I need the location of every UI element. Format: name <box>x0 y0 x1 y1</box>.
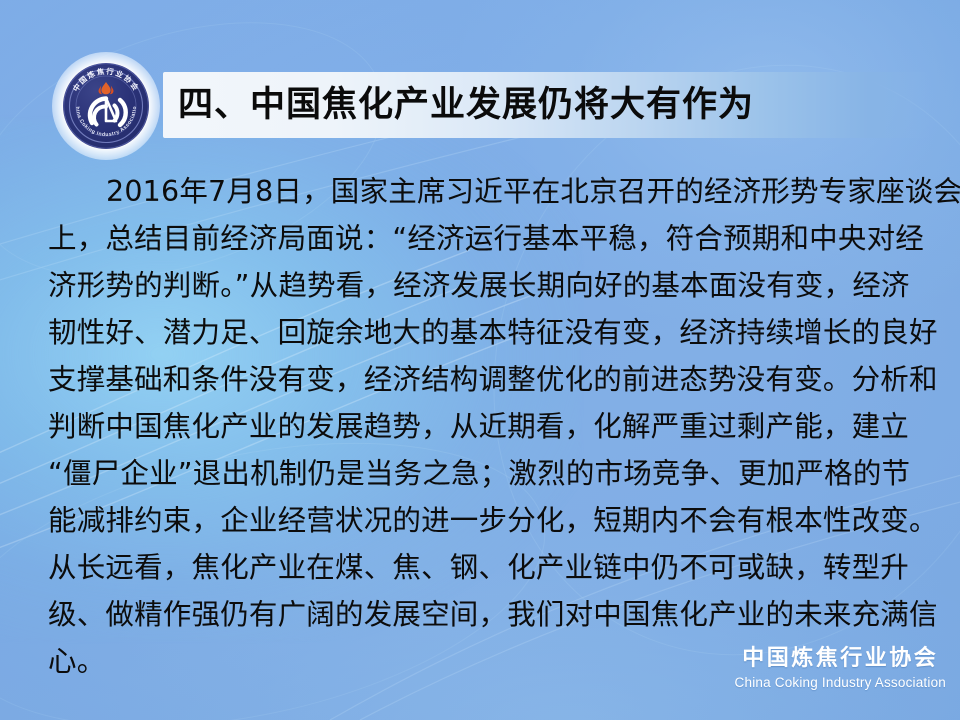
body-line: 济形势的判断。”从趋势看，经济发展长期向好的基本面没有变，经济 <box>48 262 914 309</box>
logo-emblem-icon: 中国炼焦行业协会 China Coking Industry Associati… <box>63 63 149 149</box>
flame-icon <box>99 82 114 94</box>
footer-watermark: 中国炼焦行业协会 China Coking Industry Associati… <box>735 646 946 692</box>
body-line: 级、做精作强仍有广阔的发展空间，我们对中国焦化产业的未来充满信 <box>48 591 914 638</box>
body-paragraph: 2016年7月8日，国家主席习近平在北京召开的经济形势专家座谈会 上，总结目前经… <box>48 168 914 685</box>
body-line: 支撑基础和条件没有变，经济结构调整优化的前进态势没有变。分析和 <box>48 356 914 403</box>
body-line: “僵尸企业”退出机制仍是当务之急；激烈的市场竞争、更加严格的节 <box>48 450 914 497</box>
page-title: 四、中国焦化产业发展仍将大有作为 <box>178 76 754 134</box>
association-logo: 中国炼焦行业协会 China Coking Industry Associati… <box>52 52 160 160</box>
logo-disc: 中国炼焦行业协会 China Coking Industry Associati… <box>63 63 149 149</box>
footer-org-name-cn: 中国炼焦行业协会 <box>735 646 946 672</box>
body-line: 从长远看，焦化产业在煤、焦、钢、化产业链中仍不可或缺，转型升 <box>48 544 914 591</box>
body-line: 韧性好、潜力足、回旋余地大的基本特征没有变，经济持续增长的良好 <box>48 309 914 356</box>
body-line: 2016年7月8日，国家主席习近平在北京召开的经济形势专家座谈会 <box>48 168 914 215</box>
footer-org-name-en: China Coking Industry Association <box>735 674 946 692</box>
body-line: 上，总结目前经济局面说：“经济运行基本平稳，符合预期和中央对经 <box>48 215 914 262</box>
body-line: 判断中国焦化产业的发展趋势，从近期看，化解严重过剩产能，建立 <box>48 403 914 450</box>
slide: 四、中国焦化产业发展仍将大有作为 中国炼焦行业协会 China Coking I… <box>0 0 960 720</box>
body-line: 能减排约束，企业经营状况的进一步分化，短期内不会有根本性改变。 <box>48 497 914 544</box>
